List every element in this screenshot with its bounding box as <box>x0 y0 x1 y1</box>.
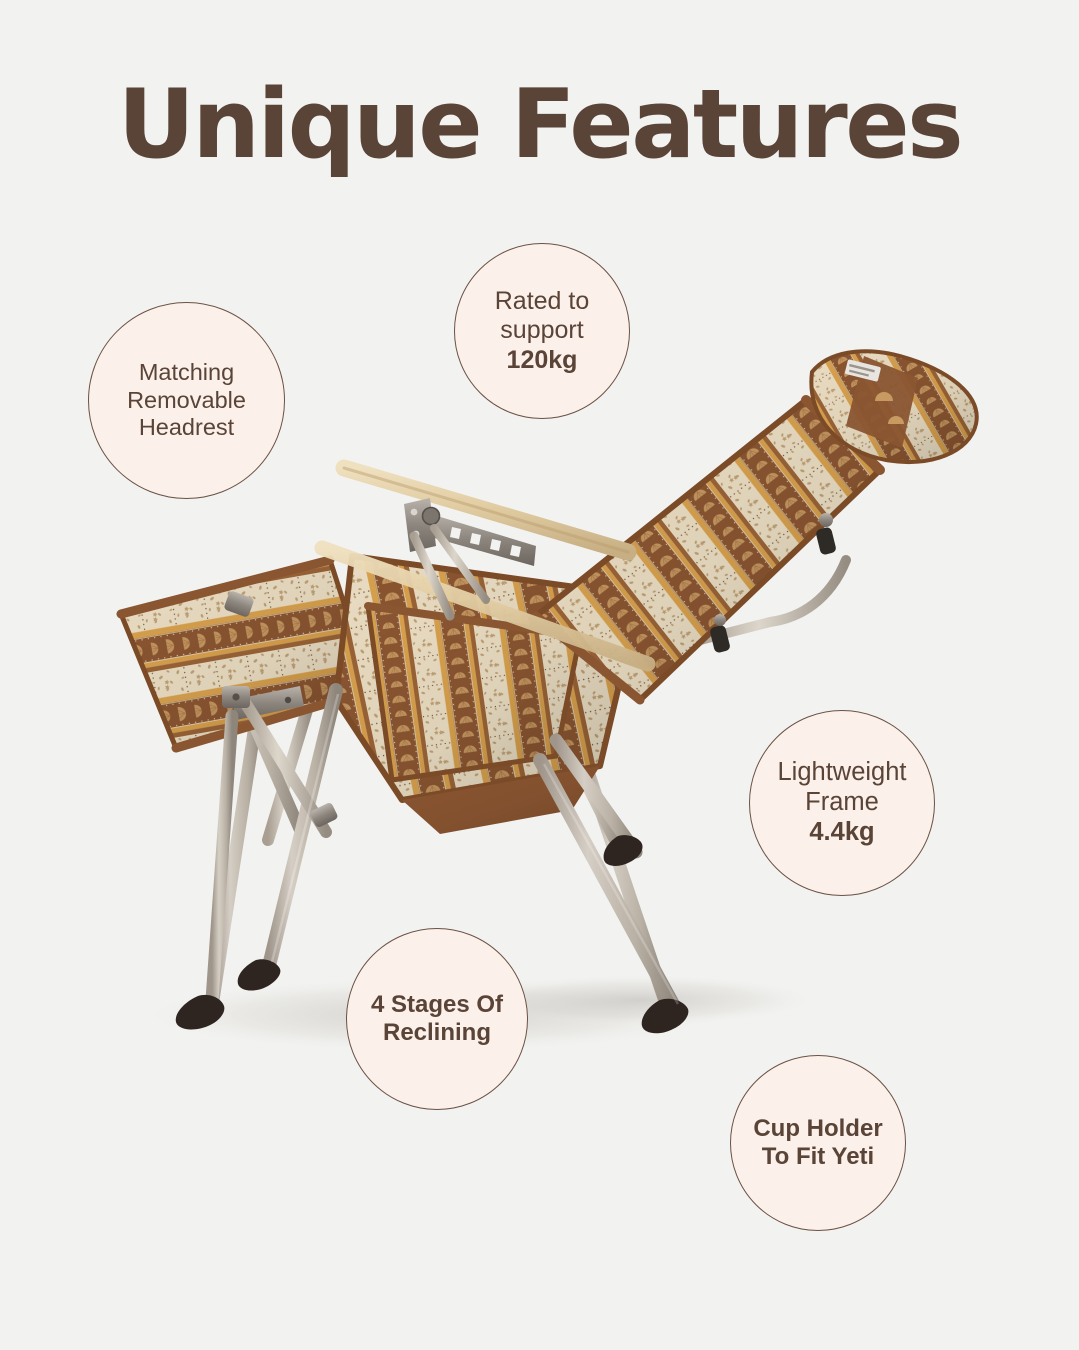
feature-badge-rated-to-support-120kg[interactable]: Rated to support 120kg <box>454 243 630 419</box>
badge-line-2: Frame <box>777 788 906 818</box>
badge-text: Rated to support 120kg <box>487 287 598 375</box>
badge-line-1: Matching <box>127 359 246 386</box>
badge-text: Cup Holder To Fit Yeti <box>745 1115 890 1171</box>
feature-badge-cup-holder-to-fit-yeti[interactable]: Cup Holder To Fit Yeti <box>730 1055 906 1231</box>
chair-illustration <box>0 0 1079 1350</box>
feature-badge-lightweight-frame-4-4kg[interactable]: Lightweight Frame 4.4kg <box>749 710 935 896</box>
badge-line-1: Rated to <box>495 287 590 316</box>
product-image <box>0 0 1079 1350</box>
badge-line-2: Reclining <box>371 1019 503 1047</box>
badge-line-2: Removable <box>127 387 246 414</box>
badge-text: Lightweight Frame 4.4kg <box>769 758 914 847</box>
badge-line-2: support <box>495 316 590 345</box>
badge-emphasis: 4.4kg <box>777 818 906 848</box>
badge-line-3: Headrest <box>127 414 246 441</box>
badge-line-1: 4 Stages Of <box>371 991 503 1019</box>
badge-line-1: Lightweight <box>777 758 906 788</box>
badge-text: Matching Removable Headrest <box>119 359 254 441</box>
badge-text: 4 Stages Of Reclining <box>363 991 511 1047</box>
feature-badge-matching-removable-headrest[interactable]: Matching Removable Headrest <box>88 302 285 499</box>
badge-line-1: Cup Holder <box>753 1115 882 1143</box>
infographic-canvas: Unique Features <box>0 0 1079 1350</box>
badge-line-2: To Fit Yeti <box>753 1143 882 1171</box>
badge-emphasis: 120kg <box>495 346 590 375</box>
feature-badge-4-stages-of-reclining[interactable]: 4 Stages Of Reclining <box>346 928 528 1110</box>
